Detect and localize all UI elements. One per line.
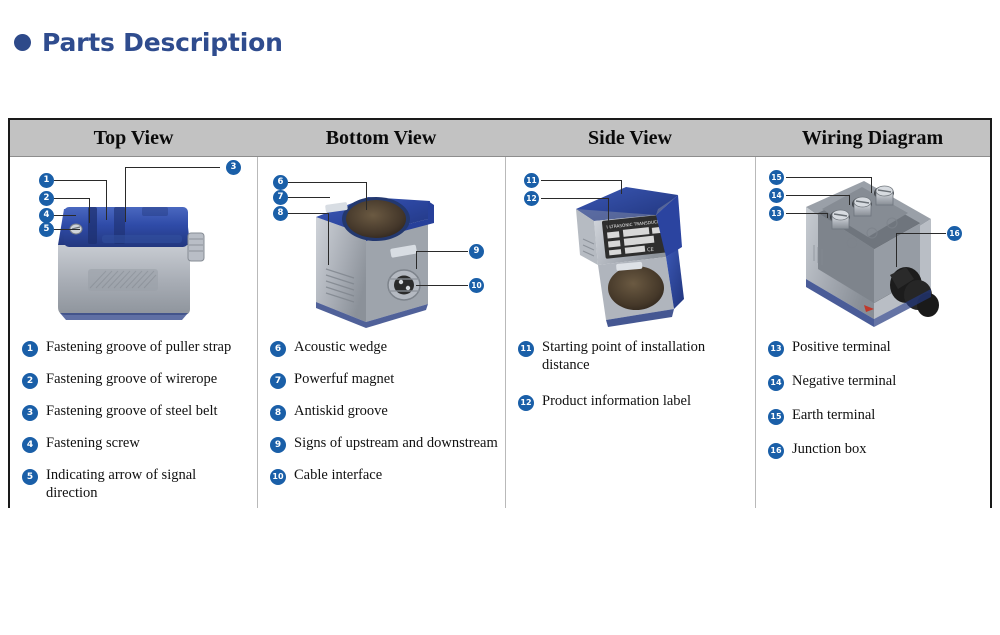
badge-16: 16 (768, 443, 784, 459)
list-item: 15 Earth terminal (756, 406, 990, 428)
badge-4: 4 (22, 437, 38, 453)
leader-line (288, 197, 330, 198)
callout-2: 2 (39, 191, 54, 206)
list-item-label: Starting point of installation distance (542, 338, 749, 374)
list-item-label: Fastening groove of puller strap (46, 338, 231, 356)
callout-15: 15 (769, 170, 784, 185)
list-item: 6 Acoustic wedge (258, 338, 505, 360)
list-item-label: Negative terminal (792, 372, 896, 390)
leader-line (786, 177, 871, 178)
leader-line (106, 180, 107, 220)
callout-8: 8 (273, 206, 288, 221)
legend-list-wiring-diagram: 13 Positive terminal 14 Negative termina… (756, 332, 990, 462)
list-item-label: Indicating arrow of signal direction (46, 466, 251, 502)
leader-line (54, 215, 76, 216)
list-item: 5 Indicating arrow of signal direction (10, 466, 257, 502)
callout-3: 3 (226, 160, 241, 175)
bullet-icon (14, 34, 31, 51)
leader-line (608, 198, 609, 230)
leader-line (125, 167, 126, 222)
leader-line (896, 233, 897, 267)
illustration-side-view: ULTRASONIC TRANSDUCER CE (506, 157, 755, 332)
leader-line (328, 213, 329, 265)
column-side-view: ULTRASONIC TRANSDUCER CE (505, 157, 755, 508)
list-item: 12 Product information label (506, 392, 755, 414)
callout-16: 16 (947, 226, 962, 241)
list-item-label: Earth terminal (792, 406, 875, 424)
leader-line (288, 213, 328, 214)
badge-5: 5 (22, 469, 38, 485)
badge-1: 1 (22, 341, 38, 357)
badge-15: 15 (768, 409, 784, 425)
list-item: 4 Fastening screw (10, 434, 257, 456)
column-header-top-view: Top View (10, 120, 257, 156)
leader-line (871, 177, 872, 193)
list-item: 16 Junction box (756, 440, 990, 462)
list-item-label: Fastening groove of wirerope (46, 370, 217, 388)
legend-list-bottom-view: 6 Acoustic wedge 7 Powerfuf magnet 8 Ant… (258, 332, 505, 488)
badge-10: 10 (270, 469, 286, 485)
parts-description-table: Top View Bottom View Side View Wiring Di… (8, 118, 992, 508)
column-bottom-view: 6 7 8 9 10 6 Acoustic wedge 7 Powerfuf m… (257, 157, 505, 508)
badge-3: 3 (22, 405, 38, 421)
illustration-top-view: 1 2 4 5 3 (10, 157, 257, 332)
leader-line (827, 213, 828, 218)
illustration-wiring-diagram: 15 14 13 16 (756, 157, 990, 332)
callout-6: 6 (273, 175, 288, 190)
column-header-side-view: Side View (505, 120, 755, 156)
callout-7: 7 (273, 190, 288, 205)
svg-text:CE: CE (647, 247, 654, 254)
page-title: Parts Description (14, 28, 283, 57)
list-item: 14 Negative terminal (756, 372, 990, 394)
list-item-label: Fastening screw (46, 434, 140, 452)
callout-5: 5 (39, 222, 54, 237)
illustration-bottom-view: 6 7 8 9 10 (258, 157, 505, 332)
badge-8: 8 (270, 405, 286, 421)
list-item: 8 Antiskid groove (258, 402, 505, 424)
table-body-row: 1 2 4 5 3 1 Fastening groove of puller s… (10, 157, 990, 508)
list-item-label: Junction box (792, 440, 867, 458)
column-header-wiring-diagram: Wiring Diagram (755, 120, 990, 156)
list-item-label: Fastening groove of steel belt (46, 402, 218, 420)
badge-14: 14 (768, 375, 784, 391)
badge-7: 7 (270, 373, 286, 389)
callout-14: 14 (769, 188, 784, 203)
leader-line (621, 180, 622, 194)
leader-line (416, 285, 468, 286)
column-top-view: 1 2 4 5 3 1 Fastening groove of puller s… (10, 157, 257, 508)
leader-line (896, 233, 946, 234)
column-header-bottom-view: Bottom View (257, 120, 505, 156)
leader-line (416, 251, 417, 269)
callout-4: 4 (39, 208, 54, 223)
list-item: 2 Fastening groove of wirerope (10, 370, 257, 392)
badge-11: 11 (518, 341, 534, 357)
leader-line (786, 213, 827, 214)
legend-list-top-view: 1 Fastening groove of puller strap 2 Fas… (10, 332, 257, 502)
badge-6: 6 (270, 341, 286, 357)
list-item-label: Acoustic wedge (294, 338, 387, 356)
list-item: 7 Powerfuf magnet (258, 370, 505, 392)
leader-line (786, 195, 849, 196)
leader-line (125, 167, 220, 168)
table-header-row: Top View Bottom View Side View Wiring Di… (10, 120, 990, 157)
leader-line (541, 198, 608, 199)
callout-12: 12 (524, 191, 539, 206)
legend-list-side-view: 11 Starting point of installation distan… (506, 332, 755, 414)
leader-line (366, 182, 367, 210)
page-title-label: Parts Description (42, 28, 283, 57)
callout-1: 1 (39, 173, 54, 188)
callout-11: 11 (524, 173, 539, 188)
list-item: 10 Cable interface (258, 466, 505, 488)
column-wiring-diagram: 15 14 13 16 13 Positive terminal 14 Nega… (755, 157, 990, 508)
leader-line (54, 198, 89, 199)
callout-13: 13 (769, 206, 784, 221)
list-item: 1 Fastening groove of puller strap (10, 338, 257, 360)
badge-12: 12 (518, 395, 534, 411)
badge-13: 13 (768, 341, 784, 357)
list-item: 9 Signs of upstream and downstream (258, 434, 505, 456)
badge-9: 9 (270, 437, 286, 453)
callout-9: 9 (469, 244, 484, 259)
list-item-label: Product information label (542, 392, 691, 410)
list-item: 13 Positive terminal (756, 338, 990, 360)
leader-line (288, 182, 366, 183)
list-item-label: Antiskid groove (294, 402, 388, 420)
list-item: 3 Fastening groove of steel belt (10, 402, 257, 424)
list-item: 11 Starting point of installation distan… (506, 338, 755, 374)
leader-line (849, 195, 850, 205)
leader-line (54, 180, 107, 181)
list-item-label: Positive terminal (792, 338, 891, 356)
list-item-label: Signs of upstream and downstream (294, 434, 498, 452)
leader-line (541, 180, 621, 181)
leader-line (89, 198, 90, 223)
leader-line (54, 229, 80, 230)
list-item-label: Powerfuf magnet (294, 370, 394, 388)
badge-2: 2 (22, 373, 38, 389)
callout-10: 10 (469, 278, 484, 293)
leader-line (416, 251, 468, 252)
list-item-label: Cable interface (294, 466, 382, 484)
